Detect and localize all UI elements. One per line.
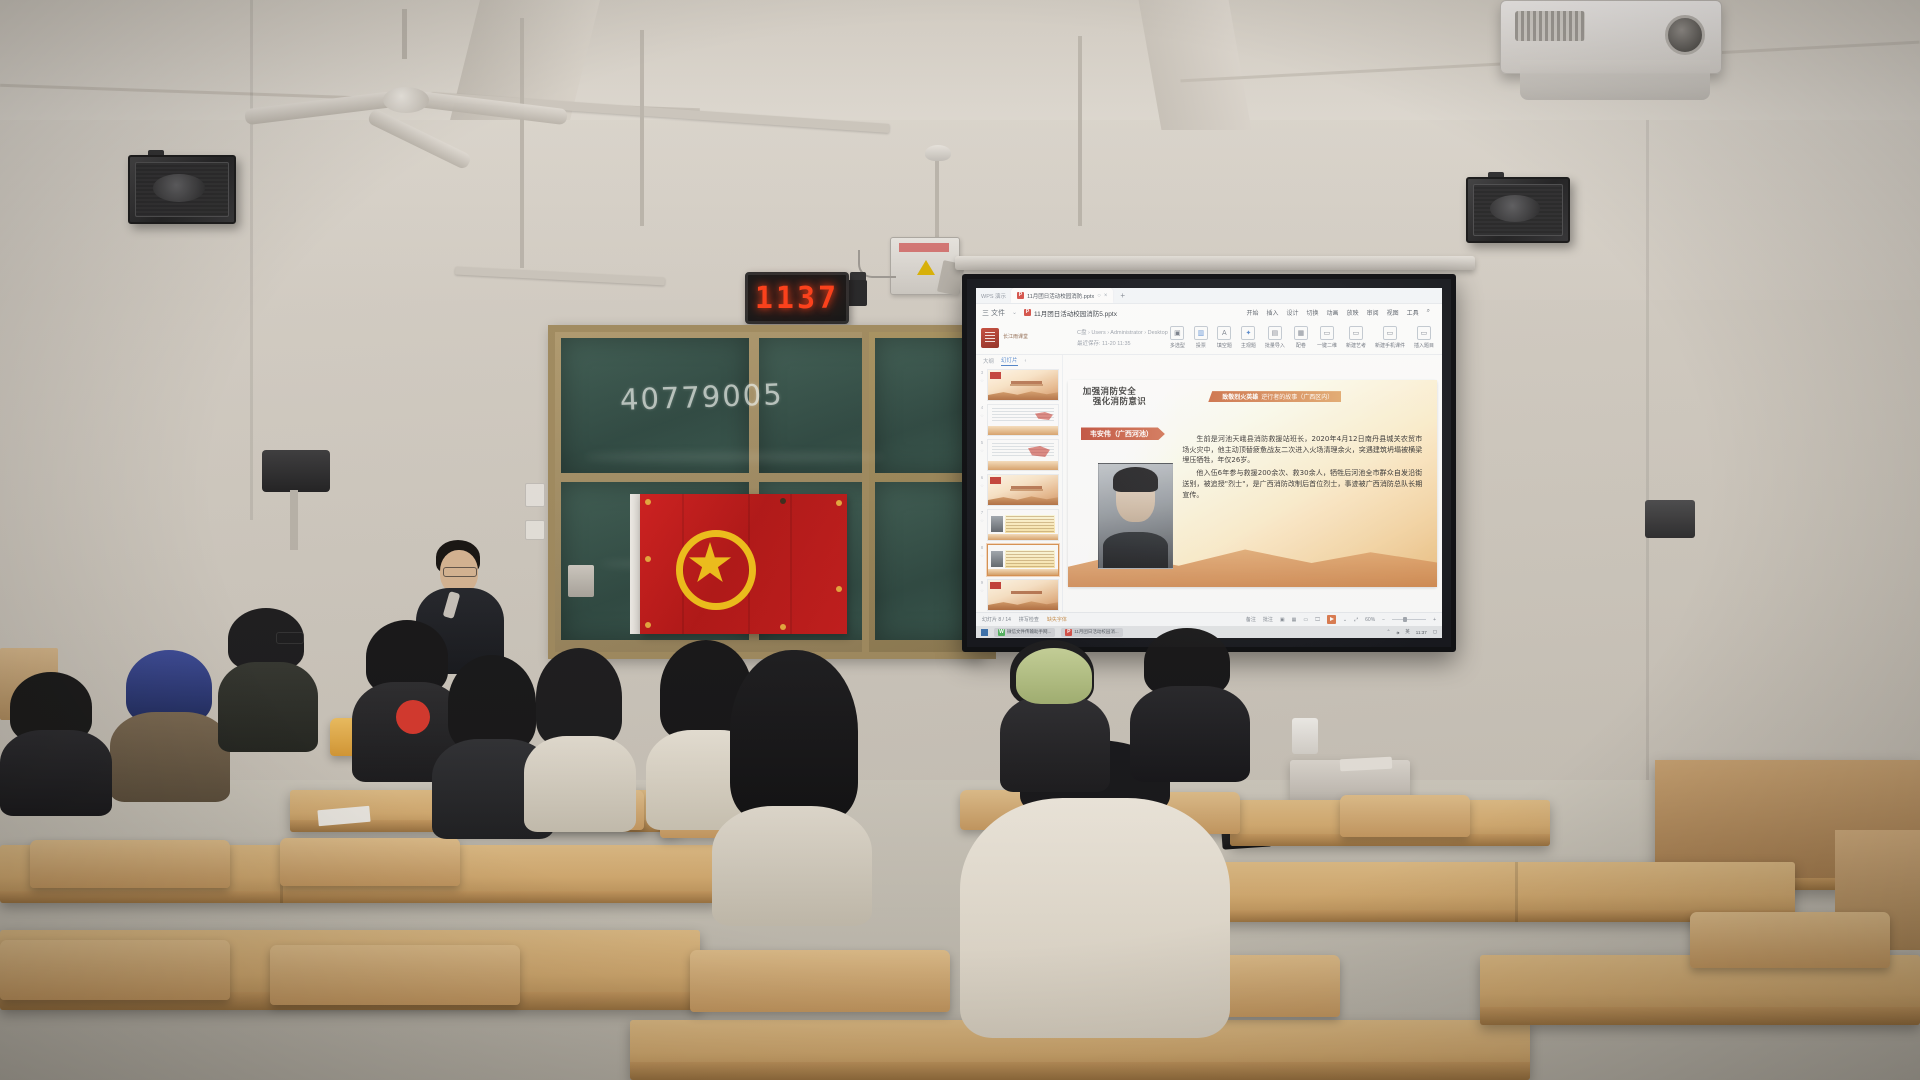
ribbon-button-label: 投票 xyxy=(1196,342,1206,349)
thumbnail-item-current[interactable]: 8☆ xyxy=(979,544,1059,576)
ribbon-button-subjective[interactable]: ✦ 主观题 xyxy=(1241,326,1256,349)
ribbon-button-label: 一键二维 xyxy=(1317,342,1337,349)
slide-canvas-area[interactable]: 致敬烈火英雄 逆行者的故事（广西区内） 加强消防安全 强化消防意识 韦安伟（广西… xyxy=(1063,355,1442,612)
document-name-group: P 11月团日活动校园消防5.pptx xyxy=(1024,308,1117,318)
hat-icon xyxy=(1016,648,1092,704)
tray-expand-icon[interactable]: ⌃ xyxy=(1387,629,1391,635)
slideshow-dropdown-icon[interactable]: ⌄ xyxy=(1343,617,1347,623)
menu-item-start[interactable]: 开始 xyxy=(1246,308,1258,317)
thumbnail-item[interactable]: 6☆ xyxy=(979,474,1059,506)
wps-app-label: WPS 演示 xyxy=(981,292,1006,300)
ribbon-button-vote[interactable]: ▥ 投票 xyxy=(1194,326,1208,349)
digital-wall-clock: 1137 xyxy=(745,272,849,324)
thumbnail-preview-selected[interactable] xyxy=(987,544,1059,576)
thumbnail-item[interactable]: 4☆ xyxy=(979,404,1059,436)
menu-item-animation[interactable]: 动画 xyxy=(1327,308,1339,317)
start-slideshow-button[interactable] xyxy=(1327,615,1336,624)
ribbon-button-label: 插入题目 xyxy=(1414,342,1434,349)
powerpoint-icon: P xyxy=(1024,309,1031,316)
tray-language[interactable]: 英 xyxy=(1405,629,1410,635)
slide-counter: 幻灯片 8 / 14 xyxy=(982,616,1011,623)
tab-outline[interactable]: 大纲 xyxy=(983,357,994,365)
star-icon: ☆ xyxy=(980,518,984,524)
portrait-hair xyxy=(1113,467,1157,492)
taskbar-item-label: 微信文件传输助手网... xyxy=(1007,629,1051,635)
fan-hub xyxy=(383,87,429,113)
ribbon-button-label: 批量导入 xyxy=(1265,342,1285,349)
zoom-slider-knob[interactable] xyxy=(1403,617,1407,622)
slide-paragraph-1: 生前是河池天峨县消防救援站班长，2020年4月12日南丹县城关农贸市场火灾中，他… xyxy=(1182,434,1422,467)
paper-cup xyxy=(1292,718,1318,754)
projection-screen: WPS 演示 P 11月团日活动校园消防.pptx ○ × + 三 文件 ⌄ P… xyxy=(962,274,1456,652)
missing-font-warning[interactable]: 缺失字体 xyxy=(1047,616,1067,623)
taskbar-item-wechat[interactable]: W 微信文件传输助手网... xyxy=(994,628,1055,637)
wall-panel-right xyxy=(1645,500,1695,538)
ribbon-button-label: 配卷 xyxy=(1296,342,1306,349)
insert-question-icon: ▭ xyxy=(1417,326,1431,340)
hanger-rod-2 xyxy=(640,30,644,226)
powerpoint-icon: P xyxy=(1065,629,1072,636)
red-ball xyxy=(396,700,430,734)
student-torso-light xyxy=(524,736,636,832)
glasses-icon xyxy=(276,632,304,644)
star-icon: ☆ xyxy=(980,448,984,454)
document-meta: C盘 › Users › Administrator › Desktop 最近保… xyxy=(1077,321,1168,354)
start-menu-icon[interactable] xyxy=(981,629,988,636)
slide-sorter-icon[interactable]: ▦ xyxy=(1292,617,1297,623)
slide-name-tag: 韦安伟（广西河池） xyxy=(1081,427,1165,440)
document-tab[interactable]: P 11月团日活动校园消防.pptx ○ × xyxy=(1011,288,1113,303)
star-icon: ☆ xyxy=(980,553,984,559)
device-support-arm xyxy=(290,490,298,550)
zoom-slider[interactable] xyxy=(1392,619,1426,620)
qrcode-icon: ▭ xyxy=(1320,326,1334,340)
student-torso xyxy=(0,730,112,816)
slide-thumbnail-panel: 大纲 幻灯片 ‹ 3☆ 4☆ xyxy=(976,355,1063,612)
paper-icon: ▦ xyxy=(1294,326,1308,340)
student-torso xyxy=(110,712,230,802)
thumbnail-preview[interactable] xyxy=(987,369,1059,401)
student-torso xyxy=(1130,686,1250,782)
thumbnail-number: 3 xyxy=(981,370,984,375)
thumbnail-preview[interactable] xyxy=(987,509,1059,541)
ribbon-button-batchimport[interactable]: ▤ 批量导入 xyxy=(1265,326,1285,349)
ceiling-fan xyxy=(250,55,560,145)
ribbon-button-label: 填空题 xyxy=(1217,342,1232,349)
clock-digits: 1137 xyxy=(755,281,839,316)
thumbnail-item[interactable]: 9☆ xyxy=(979,579,1059,611)
wechat-icon: W xyxy=(998,629,1005,636)
ribbon-button-newexam[interactable]: ▭ 新建艺考 xyxy=(1346,326,1366,349)
batchimport-icon: ▤ xyxy=(1268,326,1282,340)
menu-item-tools[interactable]: 工具 xyxy=(1407,308,1419,317)
tray-volume-icon[interactable]: 🕪 xyxy=(1396,630,1399,635)
comment-button[interactable]: 批注 xyxy=(1263,616,1273,623)
thumbnail-item[interactable]: 7☆ xyxy=(979,509,1059,541)
normal-view-icon[interactable]: ▣ xyxy=(1280,617,1285,623)
slide-banner: 致敬烈火英雄 逆行者的故事（广西区内） xyxy=(1208,391,1341,402)
wall-mounted-device xyxy=(262,450,330,492)
projector-housing xyxy=(1520,60,1710,100)
zoom-in-button[interactable]: + xyxy=(1433,617,1436,623)
spellcheck-status[interactable]: 拼写检查 xyxy=(1019,616,1039,623)
last-saved: 最近保存: 11-20 11:35 xyxy=(1077,339,1168,347)
student-torso xyxy=(218,662,318,752)
vote-icon: ▥ xyxy=(1194,326,1208,340)
thumbnail-number: 8 xyxy=(981,545,984,550)
student-hair-long xyxy=(730,650,858,820)
system-tray: ⌃ 🕪 英 11:37 ▢ xyxy=(1387,629,1437,635)
zoom-out-button[interactable]: − xyxy=(1382,617,1385,623)
chair-back xyxy=(0,940,230,1000)
wps-workspace: 大纲 幻灯片 ‹ 3☆ 4☆ xyxy=(976,355,1442,612)
notification-icon[interactable]: ▢ xyxy=(1433,629,1437,635)
screen-roller-bar xyxy=(955,256,1475,270)
ribbon-menu-strip: 开始 插入 设计 切换 动画 放映 审阅 视图 工具 ⌕ xyxy=(1246,308,1436,317)
file-menu-button[interactable]: 三 文件 xyxy=(982,308,1005,318)
light-switch[interactable] xyxy=(525,483,545,507)
current-slide[interactable]: 致敬烈火英雄 逆行者的故事（广西区内） 加强消防安全 强化消防意识 韦安伟（广西… xyxy=(1068,380,1437,588)
collapse-panel-icon[interactable]: ‹ xyxy=(1025,358,1027,364)
wps-presentation-window: WPS 演示 P 11月团日活动校园消防.pptx ○ × + 三 文件 ⌄ P… xyxy=(976,288,1442,638)
slide-banner-main: 致敬烈火英雄 xyxy=(1222,392,1258,401)
taskbar-item-wps[interactable]: P 11月团日活动校园消... xyxy=(1061,628,1122,637)
ribbon-button-paper[interactable]: ▦ 配卷 xyxy=(1294,326,1308,349)
thumbnail-number: 5 xyxy=(981,440,984,445)
thumbnail-preview[interactable] xyxy=(987,579,1059,611)
smoke-detector-icon xyxy=(925,145,951,161)
thumbnail-preview[interactable] xyxy=(987,439,1059,471)
file-path: C盘 › Users › Administrator › Desktop xyxy=(1077,328,1168,336)
menu-item-design[interactable]: 设计 xyxy=(1287,308,1299,317)
search-icon[interactable]: ⌕ xyxy=(1427,308,1430,317)
star-icon: ☆ xyxy=(980,588,984,594)
electrical-box-label xyxy=(899,243,949,252)
zoom-level[interactable]: 60% xyxy=(1365,617,1375,623)
chair-back xyxy=(270,945,520,1005)
wps-ribbon: 长江雨课堂 C盘 › Users › Administrator › Deskt… xyxy=(976,321,1442,355)
menu-item-view[interactable]: 视图 xyxy=(1387,308,1399,317)
presenter-view-icon[interactable]: 🖵 xyxy=(1315,617,1320,623)
document-name: 11月团日活动校园消防5.pptx xyxy=(1034,308,1117,318)
chevron-down-icon[interactable]: ⌄ xyxy=(1012,309,1017,316)
wps-status-bar: 幻灯片 8 / 14 拼写检查 缺失字体 备注 批注 ▣ ▦ ▭ 🖵 ⌄ ⤢ 6… xyxy=(976,612,1442,626)
fan-rod xyxy=(402,9,407,59)
slide-banner-sub: 逆行者的故事（广西区内） xyxy=(1261,392,1333,401)
student-torso-light xyxy=(960,798,1230,1038)
ribbon-button-group: ▣ 多选型 ▥ 投票 A 填空题 ✦ 主观题 xyxy=(1170,321,1442,354)
board-eraser xyxy=(568,565,594,597)
ribbon-button-label: 新建手机课件 xyxy=(1375,342,1405,349)
warning-triangle-icon xyxy=(917,260,935,275)
memorial-portrait xyxy=(1098,463,1174,569)
hanger-rod-3 xyxy=(1078,36,1082,226)
wall-speaker-right xyxy=(1466,177,1570,243)
menu-item-insert[interactable]: 插入 xyxy=(1267,308,1279,317)
chalk-smudge xyxy=(585,452,885,462)
student xyxy=(1130,628,1250,778)
ribbon-button-fillblank[interactable]: A 填空题 xyxy=(1217,326,1232,349)
taskbar-item-label: 11月团日活动校园消... xyxy=(1074,629,1118,635)
ribbon-button-label: 新建艺考 xyxy=(1346,342,1366,349)
ribbon-brand-area: 长江雨课堂 xyxy=(976,321,1077,354)
chair-back xyxy=(1690,912,1890,968)
wall-seam xyxy=(1646,120,1649,780)
fan-blade xyxy=(417,91,568,125)
menu-item-review[interactable]: 审阅 xyxy=(1367,308,1379,317)
student xyxy=(524,648,636,813)
thumbnail-list[interactable]: 3☆ 4☆ 5 xyxy=(976,367,1062,612)
thumbnail-item[interactable]: 5☆ xyxy=(979,439,1059,471)
mobile-courseware-icon: ▭ xyxy=(1383,326,1397,340)
star-icon: ☆ xyxy=(980,413,984,419)
student-hair-long xyxy=(448,655,536,751)
document-tab-label: 11月团日活动校园消防.pptx xyxy=(1027,292,1094,300)
thumbnail-preview[interactable] xyxy=(987,404,1059,436)
chair-back xyxy=(1340,795,1470,837)
powerpoint-icon: P xyxy=(1017,292,1024,299)
fullscreen-icon[interactable]: ⤢ xyxy=(1354,617,1358,623)
panel-tabs: 大纲 幻灯片 ‹ xyxy=(976,355,1062,367)
notes-button[interactable]: 备注 xyxy=(1246,616,1256,623)
student xyxy=(110,650,230,790)
thumbnail-number: 4 xyxy=(981,405,984,410)
light-switch-secondary[interactable] xyxy=(525,520,545,540)
brand-logo-icon xyxy=(981,328,999,348)
fillblank-icon: A xyxy=(1217,326,1231,340)
thumbnail-number: 7 xyxy=(981,510,984,515)
student-with-hat xyxy=(1010,648,1100,738)
close-icon[interactable]: × xyxy=(1104,293,1108,299)
youth-league-flag xyxy=(640,494,847,634)
tray-clock[interactable]: 11:37 xyxy=(1416,630,1427,635)
ribbon-button-label: 多选型 xyxy=(1170,342,1185,349)
reading-view-icon[interactable]: ▭ xyxy=(1303,617,1308,623)
red-object xyxy=(396,700,456,760)
projector-vent xyxy=(1515,11,1585,41)
student xyxy=(0,672,112,807)
ribbon-button-insertquestion[interactable]: ▭ 插入题目 xyxy=(1414,326,1434,349)
ribbon-button-mobilecourseware[interactable]: ▭ 新建手机课件 xyxy=(1375,326,1405,349)
wall-speaker-left xyxy=(128,155,236,224)
classroom-scene: 1137 40779005 xyxy=(0,0,1920,1080)
wps-title-row: 三 文件 ⌄ P 11月团日活动校园消防5.pptx 开始 插入 设计 切换 动… xyxy=(976,304,1442,321)
status-right-group: 备注 批注 ▣ ▦ ▭ 🖵 ⌄ ⤢ 60% − + xyxy=(1246,615,1436,624)
thumbnail-number: 6 xyxy=(981,475,984,480)
tab-slides[interactable]: 幻灯片 xyxy=(1001,356,1018,366)
thumbnail-number: 9 xyxy=(981,580,984,585)
chair-back xyxy=(690,950,950,1012)
hanger-rod-4 xyxy=(935,150,939,242)
menu-item-slideshow[interactable]: 放映 xyxy=(1347,308,1359,317)
ribbon-button-qrcode[interactable]: ▭ 一键二维 xyxy=(1317,326,1337,349)
chair-back xyxy=(280,838,460,886)
star-icon: ☆ xyxy=(980,378,984,384)
thumbnail-item[interactable]: 3☆ xyxy=(979,369,1059,401)
slide-header: 加强消防安全 强化消防意识 xyxy=(1083,388,1146,408)
student-torso-light xyxy=(712,806,872,926)
student-hair-long xyxy=(536,648,622,746)
slide-body-text: 生前是河池天峨县消防救援站班长，2020年4月12日南丹县城关农贸市场火灾中，他… xyxy=(1182,434,1422,503)
newexam-icon: ▭ xyxy=(1349,326,1363,340)
ribbon-button-label: 主观题 xyxy=(1241,342,1256,349)
chalkboard-writing: 40779005 xyxy=(619,377,784,417)
slide-paragraph-2: 他入伍6年参与救援200余次、救30余人，牺牲后河池全市群众自发沿街送别，被追授… xyxy=(1182,468,1422,501)
multiselect-icon: ▣ xyxy=(1170,326,1184,340)
brand-name: 长江雨课堂 xyxy=(1003,334,1028,341)
wps-tab-bar: WPS 演示 P 11月团日活动校园消防.pptx ○ × + xyxy=(976,288,1442,304)
projector-lens xyxy=(1665,15,1705,55)
subjective-icon: ✦ xyxy=(1241,326,1255,340)
portrait-uniform xyxy=(1103,532,1168,567)
student xyxy=(218,608,318,740)
thumbnail-preview[interactable] xyxy=(987,474,1059,506)
chair-back xyxy=(30,840,230,888)
star-icon: ☆ xyxy=(980,483,984,489)
glasses-icon xyxy=(443,567,477,577)
new-tab-icon[interactable]: + xyxy=(1120,291,1125,300)
menu-item-transition[interactable]: 切换 xyxy=(1307,308,1319,317)
ribbon-button-multiselect[interactable]: ▣ 多选型 xyxy=(1170,326,1185,349)
slide-header-line2: 强化消防意识 xyxy=(1093,398,1146,408)
student-foreground xyxy=(712,650,872,900)
tab-circle-icon[interactable]: ○ xyxy=(1097,293,1101,299)
